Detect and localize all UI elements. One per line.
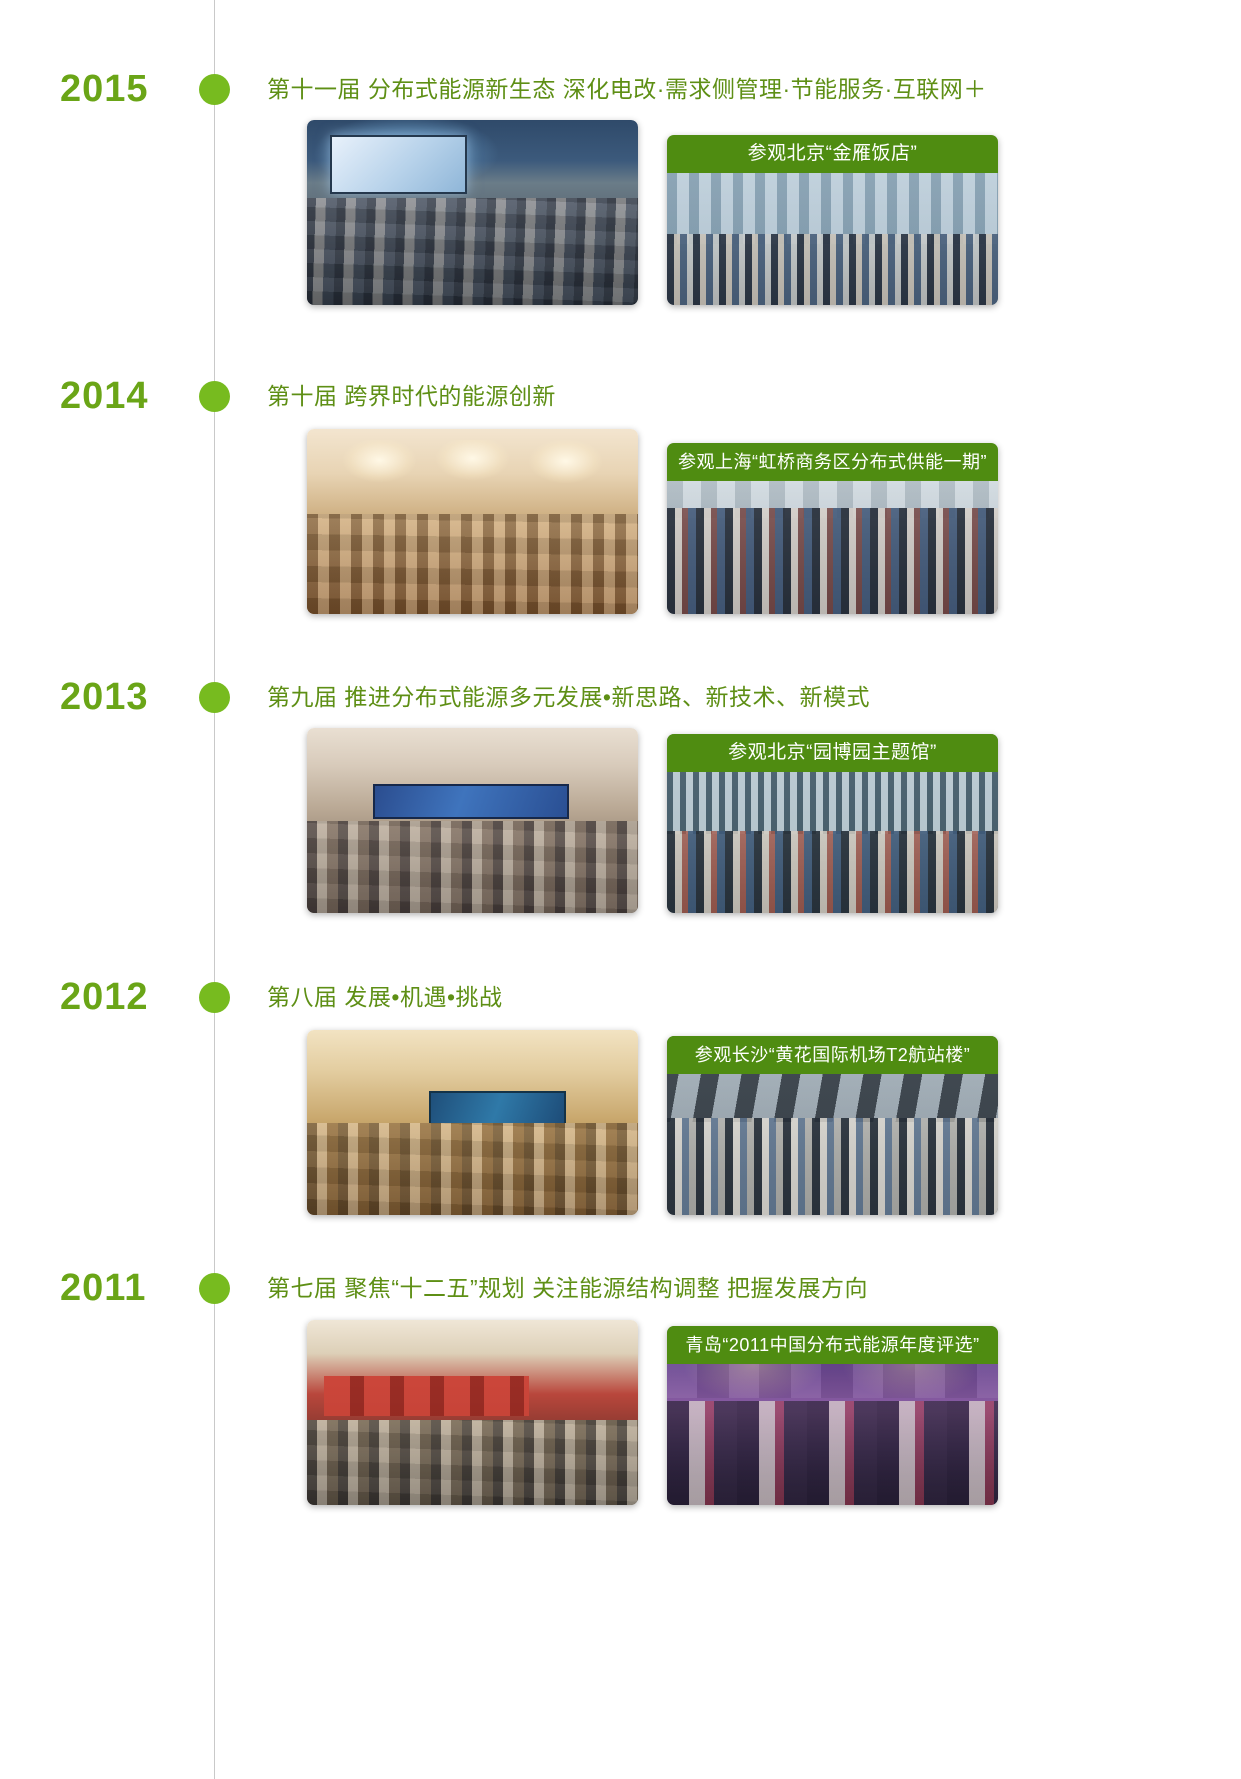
photo-card-2015-visit[interactable]: 参观北京“金雁饭店” [667,135,998,305]
photo-image-2015-conference [307,120,638,305]
event-title-2011: 第七届 聚焦“十二五”规划 关注能源结构调整 把握发展方向 [267,1273,868,1303]
photo-card-2014-conference[interactable] [307,429,638,614]
photo-card-2013-visit[interactable]: 参观北京“园博园主题馆” [667,734,998,913]
photo-image-2011-conference [307,1320,638,1505]
photo-caption-2012-visit: 参观长沙“黄花国际机场T2航站楼” [667,1036,998,1074]
timeline-rail [214,0,215,1779]
photo-card-2012-conference[interactable] [307,1030,638,1215]
timeline-dot-2013 [199,682,230,713]
photo-card-2014-visit[interactable]: 参观上海“虹桥商务区分布式供能一期” [667,443,998,614]
photo-card-2013-conference[interactable] [307,728,638,913]
year-label-2015: 2015 [60,70,170,108]
timeline-dot-2014 [199,381,230,412]
photo-caption-2015-visit: 参观北京“金雁饭店” [667,135,998,173]
timeline-dot-2011 [199,1273,230,1304]
photo-card-2011-conference[interactable] [307,1320,638,1505]
photo-card-2011-visit[interactable]: 青岛“2011中国分布式能源年度评选” [667,1326,998,1505]
photo-caption-2014-visit: 参观上海“虹桥商务区分布式供能一期” [667,443,998,481]
photo-caption-2013-visit: 参观北京“园博园主题馆” [667,734,998,772]
photo-image-2013-conference [307,728,638,913]
event-title-2015: 第十一届 分布式能源新生态 深化电改·需求侧管理·节能服务·互联网＋ [267,74,987,104]
photo-image-2014-conference [307,429,638,614]
photo-card-2015-conference[interactable] [307,120,638,305]
year-label-2012: 2012 [60,978,170,1016]
year-label-2013: 2013 [60,678,170,716]
event-title-2012: 第八届 发展•机遇•挑战 [267,982,503,1012]
timeline-dot-2012 [199,982,230,1013]
event-title-2014: 第十届 跨界时代的能源创新 [267,381,556,411]
timeline-dot-2015 [199,74,230,105]
event-title-2013: 第九届 推进分布式能源多元发展•新思路、新技术、新模式 [267,682,870,712]
photo-image-2012-conference [307,1030,638,1215]
year-label-2014: 2014 [60,377,170,415]
year-label-2011: 2011 [60,1269,170,1307]
photo-caption-2011-visit: 青岛“2011中国分布式能源年度评选” [667,1326,998,1364]
photo-card-2012-visit[interactable]: 参观长沙“黄花国际机场T2航站楼” [667,1036,998,1215]
